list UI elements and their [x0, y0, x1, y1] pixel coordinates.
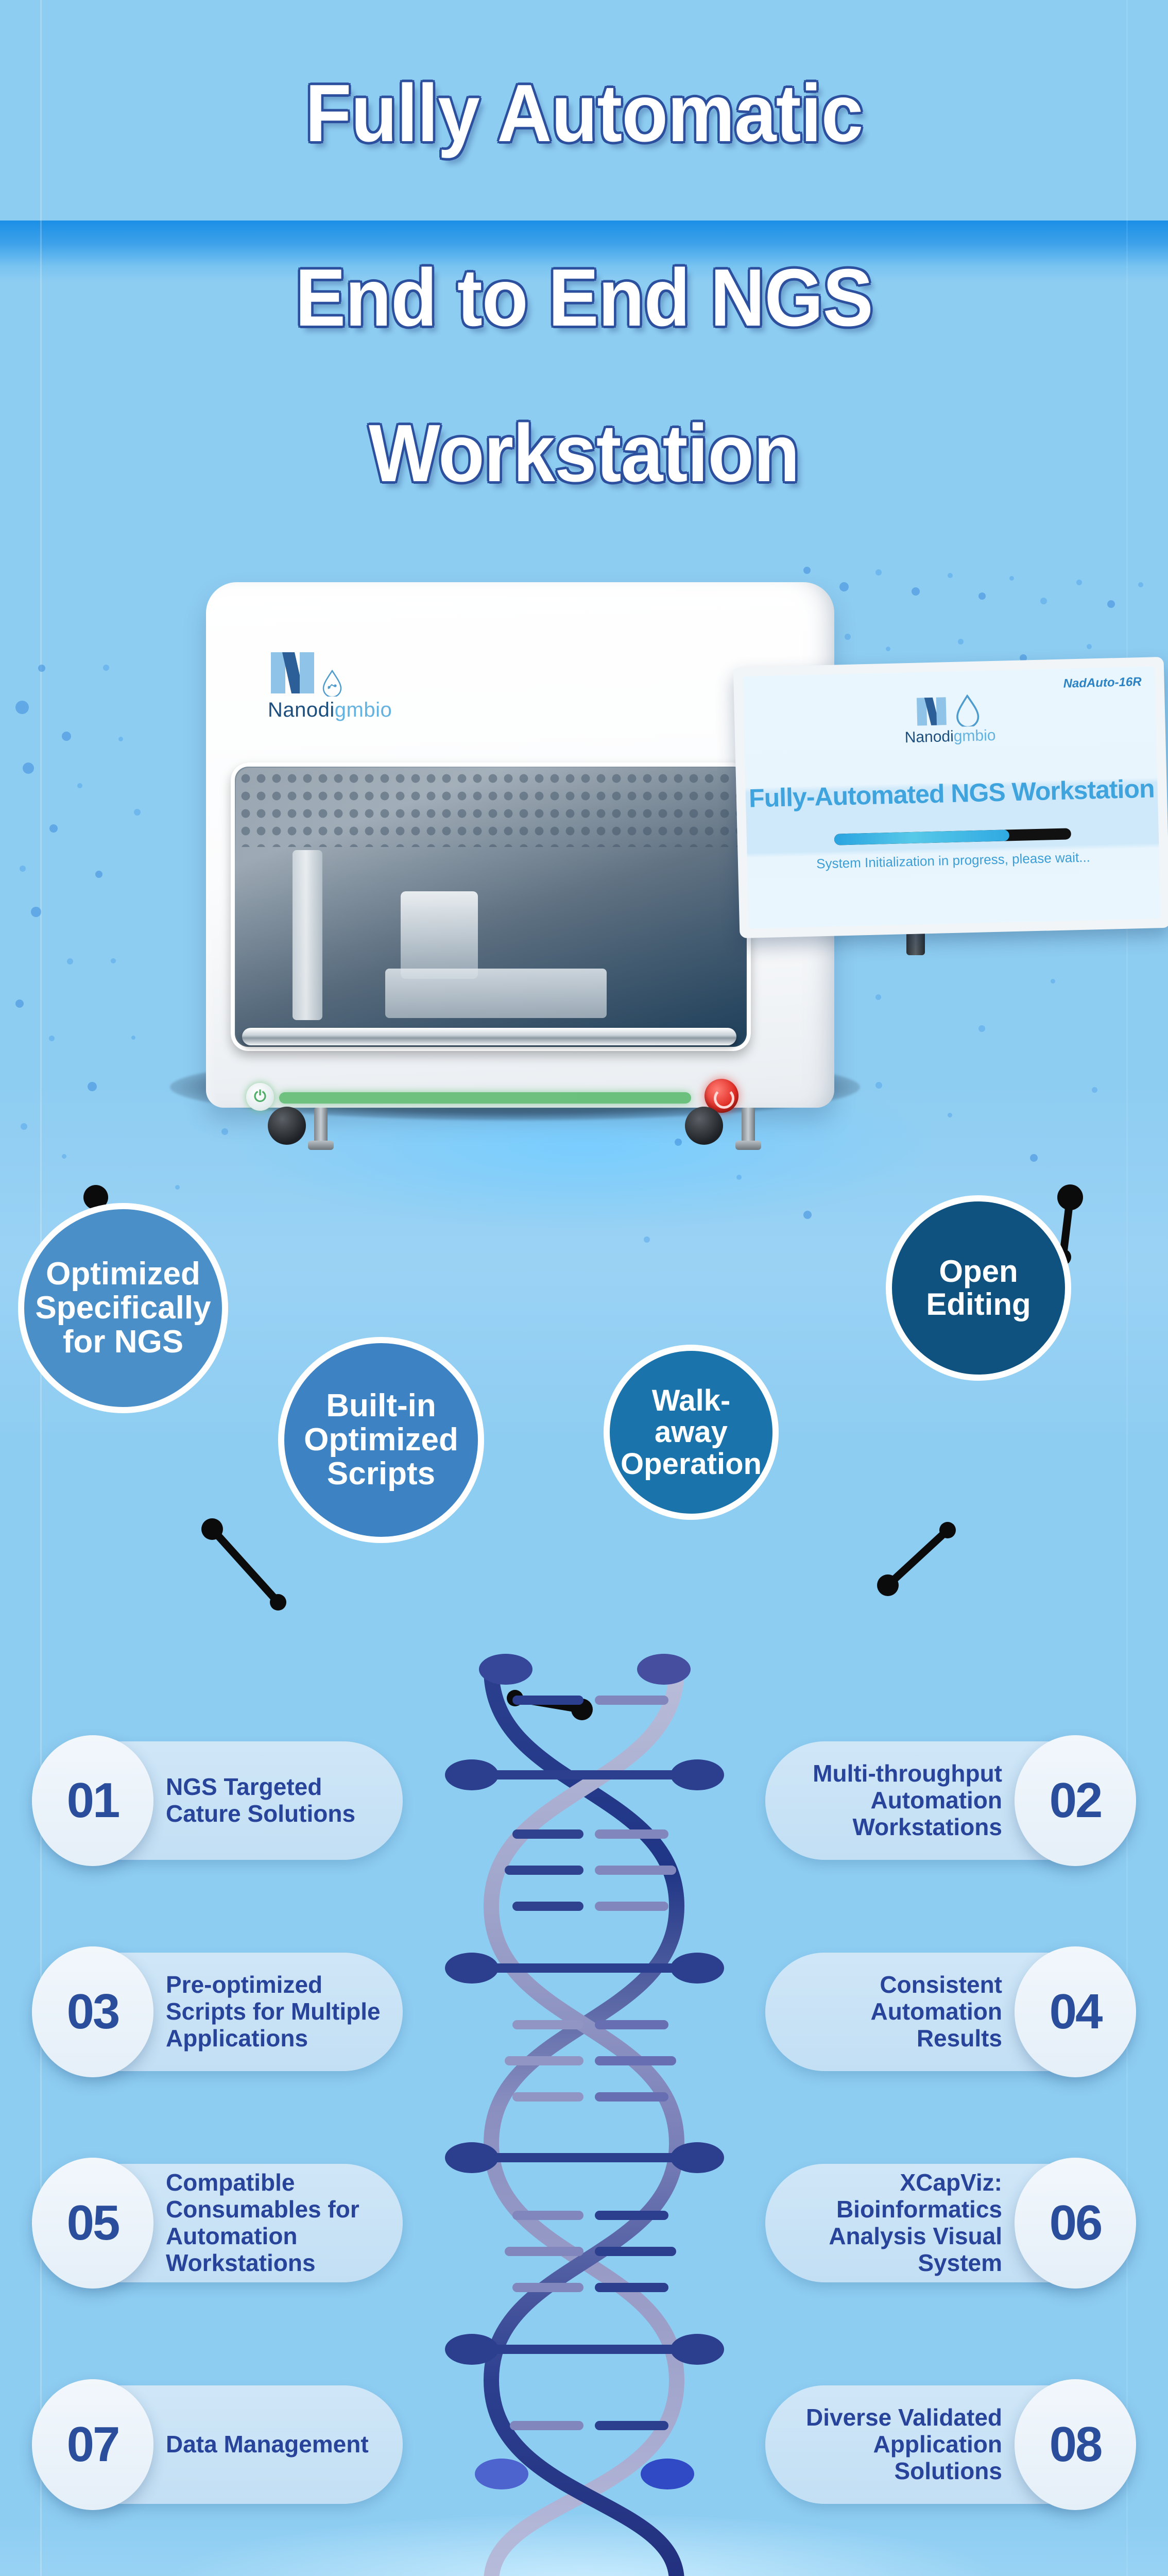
bubble-label: Walk-away Operation	[610, 1385, 772, 1480]
feature-number-badge: 01	[32, 1735, 153, 1866]
feature-number-badge: 04	[1015, 1946, 1136, 2077]
status-light-bar	[279, 1092, 691, 1104]
tip-rack	[401, 891, 478, 979]
instrument-brand: Nanodigmbio	[268, 649, 438, 722]
feature-item-05[interactable]: 05Compatible Consumables for Automation …	[37, 2164, 403, 2282]
water-droplet-icon	[950, 694, 985, 727]
brand-prefix: Nanodi	[268, 699, 335, 721]
leveling-foot	[742, 1108, 755, 1145]
screen-logo: Nanodigmbio	[743, 690, 1156, 751]
feature-bubble-optimized-for-ngs[interactable]: Optimized Specifically for NGS	[18, 1203, 228, 1413]
screen-status-text: System Initialization in progress, pleas…	[747, 848, 1160, 874]
feature-bubble-builtin-scripts[interactable]: Built-in Optimized Scripts	[278, 1337, 484, 1543]
feature-label: Diverse Validated Application Solutions	[785, 2404, 1002, 2485]
feature-label: Compatible Consumables for Automation Wo…	[166, 2170, 383, 2277]
page-title-line-3: Workstation	[41, 412, 1127, 495]
feature-bubble-walkaway-operation[interactable]: Walk-away Operation	[604, 1345, 779, 1520]
feature-number-badge: 06	[1015, 2158, 1136, 2289]
nanodigmbio-logo-icon	[914, 695, 949, 728]
feature-number-badge: 05	[32, 2158, 153, 2289]
decorative-dot	[803, 1211, 812, 1219]
feature-item-04[interactable]: 04Consistent Automation Results	[765, 1953, 1131, 2071]
feature-label: NGS Targeted Cature Solutions	[166, 1774, 383, 1827]
page-title-line-1: Fully Automatic	[41, 72, 1127, 155]
instrument-illustration: Nanodigmbio NadAuto-16R ⏻ NadAuto-16R	[0, 562, 1168, 1180]
feature-number-badge: 07	[32, 2379, 153, 2510]
decorative-dot	[644, 1236, 650, 1243]
deck-platform	[385, 969, 607, 1018]
progress-bar-fill	[834, 829, 1010, 845]
feature-label: Pre-optimized Scripts for Multiple Appli…	[166, 1972, 383, 2052]
leveling-foot	[314, 1108, 328, 1145]
feature-bubble-open-editing[interactable]: Open Editing	[886, 1195, 1071, 1381]
screen-brand-prefix: Nanodi	[904, 728, 954, 746]
feature-item-08[interactable]: 08Diverse Validated Application Solution…	[765, 2385, 1131, 2504]
halftone-pattern	[238, 770, 744, 847]
bubble-label: Built-in Optimized Scripts	[284, 1389, 478, 1490]
power-icon: ⏻	[246, 1083, 274, 1111]
door-handle	[242, 1028, 736, 1045]
screen-brand-text: Nanodigmbio	[744, 723, 1157, 751]
feature-number-badge: 02	[1015, 1735, 1136, 1866]
robot-arm	[293, 850, 322, 1020]
instrument-brand-text: Nanodigmbio	[268, 699, 438, 722]
nanodigmbio-logo-icon	[268, 649, 317, 697]
infographic-poster: Fully Automatic End to End NGS Workstati…	[0, 0, 1168, 2576]
feature-label: Consistent Automation Results	[785, 1972, 1002, 2052]
water-droplet-icon	[321, 670, 343, 697]
caster-wheel	[685, 1107, 723, 1145]
page-title-line-2: End to End NGS	[41, 257, 1127, 339]
feature-label: XCapViz: Bioinformatics Analysis Visual …	[785, 2170, 1002, 2277]
brand-suffix: gmbio	[335, 699, 392, 721]
feature-number-badge: 03	[32, 1946, 153, 2077]
bubble-label: Open Editing	[892, 1255, 1065, 1320]
bubble-label: Optimized Specifically for NGS	[24, 1257, 222, 1359]
feature-item-02[interactable]: 02Multi-throughput Automation Workstatio…	[765, 1741, 1131, 1860]
feature-item-07[interactable]: 07Data Management	[37, 2385, 403, 2504]
feature-item-06[interactable]: 06XCapViz: Bioinformatics Analysis Visua…	[765, 2164, 1131, 2282]
feature-number-badge: 08	[1015, 2379, 1136, 2510]
caster-wheel	[268, 1107, 306, 1145]
screen-model-label: NadAuto-16R	[1063, 675, 1142, 691]
monitor-screen: NadAuto-16R Nanodigmbio Fully-Automated …	[743, 666, 1161, 928]
instrument-monitor: NadAuto-16R Nanodigmbio Fully-Automated …	[733, 657, 1168, 938]
progress-bar-track	[834, 828, 1071, 845]
dna-helix-illustration	[430, 1638, 738, 2576]
feature-label: Data Management	[166, 2431, 369, 2458]
decorative-dot	[175, 1185, 180, 1190]
feature-item-03[interactable]: 03Pre-optimized Scripts for Multiple App…	[37, 1953, 403, 2071]
feature-label: Multi-throughput Automation Workstations	[785, 1760, 1002, 1841]
screen-title: Fully-Automated NGS Workstation	[745, 773, 1158, 814]
instrument-window	[231, 762, 751, 1051]
screen-brand-suffix: gmbio	[953, 727, 996, 745]
feature-item-01[interactable]: 01NGS Targeted Cature Solutions	[37, 1741, 403, 1860]
